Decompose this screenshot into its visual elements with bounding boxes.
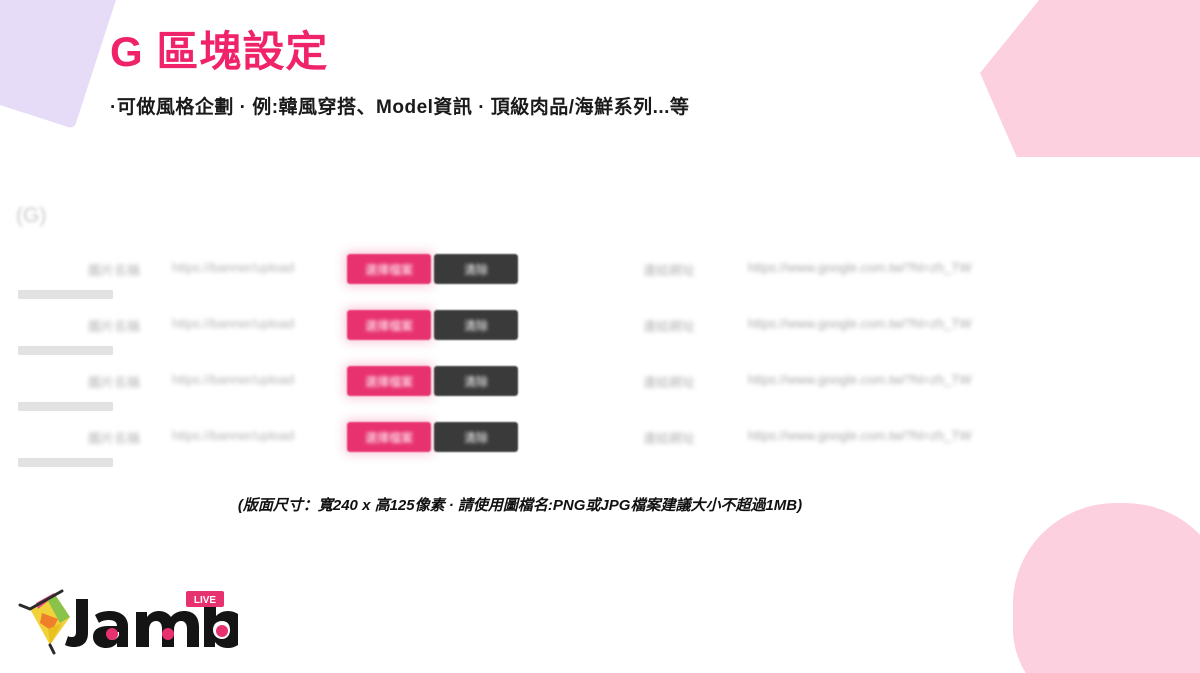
clear-button[interactable]: 清除 xyxy=(434,422,518,452)
live-badge: LIVE xyxy=(186,591,224,607)
panel-section-tag: (G) xyxy=(16,204,46,228)
upload-button[interactable]: 選擇檔案 xyxy=(347,310,431,340)
kite-mark-icon xyxy=(20,591,70,653)
row-underline xyxy=(18,290,113,299)
size-requirement-note: (版面尺寸：寬240 x 高125像素 · 請使用圖檔名:PNG或JPG檔案建議… xyxy=(0,494,1200,515)
row-underline xyxy=(18,402,113,411)
upload-button[interactable]: 選擇檔案 xyxy=(347,366,431,396)
live-badge-label: LIVE xyxy=(194,595,217,606)
row-link-url[interactable]: https://www.google.com.tw/?hl=zh_TW xyxy=(748,372,972,387)
row-name-label: 圖片名稱 xyxy=(88,316,140,335)
banner-row: 圖片名稱https://banner/upload選擇檔案清除連結網址https… xyxy=(0,310,1060,366)
clear-button[interactable]: 清除 xyxy=(434,254,518,284)
upload-button-label: 選擇檔案 xyxy=(365,261,413,278)
row-link-url[interactable]: https://www.google.com.tw/?hl=zh_TW xyxy=(748,260,972,275)
row-underline xyxy=(18,346,113,355)
clear-button-label: 清除 xyxy=(464,317,488,334)
clear-button[interactable]: 清除 xyxy=(434,366,518,396)
page-subtitle: ·可做風格企劃 · 例:韓風穿搭、Model資訊 · 頂級肉品/海鮮系列...等 xyxy=(110,92,689,119)
page-title: G 區塊設定 xyxy=(110,28,689,76)
row-image-path: https://banner/upload xyxy=(172,260,294,275)
row-link-label: 連結網址 xyxy=(643,372,695,391)
banner-row: 圖片名稱https://banner/upload選擇檔案清除連結網址https… xyxy=(0,366,1060,422)
row-image-path: https://banner/upload xyxy=(172,316,294,331)
upload-button[interactable]: 選擇檔案 xyxy=(347,254,431,284)
upload-button[interactable]: 選擇檔案 xyxy=(347,422,431,452)
row-image-path: https://banner/upload xyxy=(172,428,294,443)
row-underline xyxy=(18,458,113,467)
decoration-top-left-lavender xyxy=(0,0,127,129)
slide-header: G 區塊設定 ·可做風格企劃 · 例:韓風穿搭、Model資訊 · 頂級肉品/海… xyxy=(110,28,689,119)
clear-button[interactable]: 清除 xyxy=(434,310,518,340)
row-name-label: 圖片名稱 xyxy=(88,428,140,447)
jambo-logo: LIVE xyxy=(8,579,238,655)
upload-button-label: 選擇檔案 xyxy=(365,373,413,390)
banner-row-list: 圖片名稱https://banner/upload選擇檔案清除連結網址https… xyxy=(0,254,1060,478)
row-link-label: 連結網址 xyxy=(643,428,695,447)
banner-row: 圖片名稱https://banner/upload選擇檔案清除連結網址https… xyxy=(0,422,1060,478)
row-link-url[interactable]: https://www.google.com.tw/?hl=zh_TW xyxy=(748,316,972,331)
row-name-label: 圖片名稱 xyxy=(88,372,140,391)
row-link-label: 連結網址 xyxy=(643,316,695,335)
upload-button-label: 選擇檔案 xyxy=(365,429,413,446)
row-link-url[interactable]: https://www.google.com.tw/?hl=zh_TW xyxy=(748,428,972,443)
decoration-bottom-right-pink xyxy=(1013,503,1200,673)
row-name-label: 圖片名稱 xyxy=(88,260,140,279)
jambo-logo-graphic: LIVE xyxy=(8,579,238,655)
row-link-label: 連結網址 xyxy=(643,260,695,279)
upload-button-label: 選擇檔案 xyxy=(365,317,413,334)
slide-canvas: G 區塊設定 ·可做風格企劃 · 例:韓風穿搭、Model資訊 · 頂級肉品/海… xyxy=(0,0,1200,673)
banner-row: 圖片名稱https://banner/upload選擇檔案清除連結網址https… xyxy=(0,254,1060,310)
clear-button-label: 清除 xyxy=(464,373,488,390)
row-image-path: https://banner/upload xyxy=(172,372,294,387)
decoration-top-right-pink xyxy=(980,0,1200,157)
clear-button-label: 清除 xyxy=(464,261,488,278)
clear-button-label: 清除 xyxy=(464,429,488,446)
